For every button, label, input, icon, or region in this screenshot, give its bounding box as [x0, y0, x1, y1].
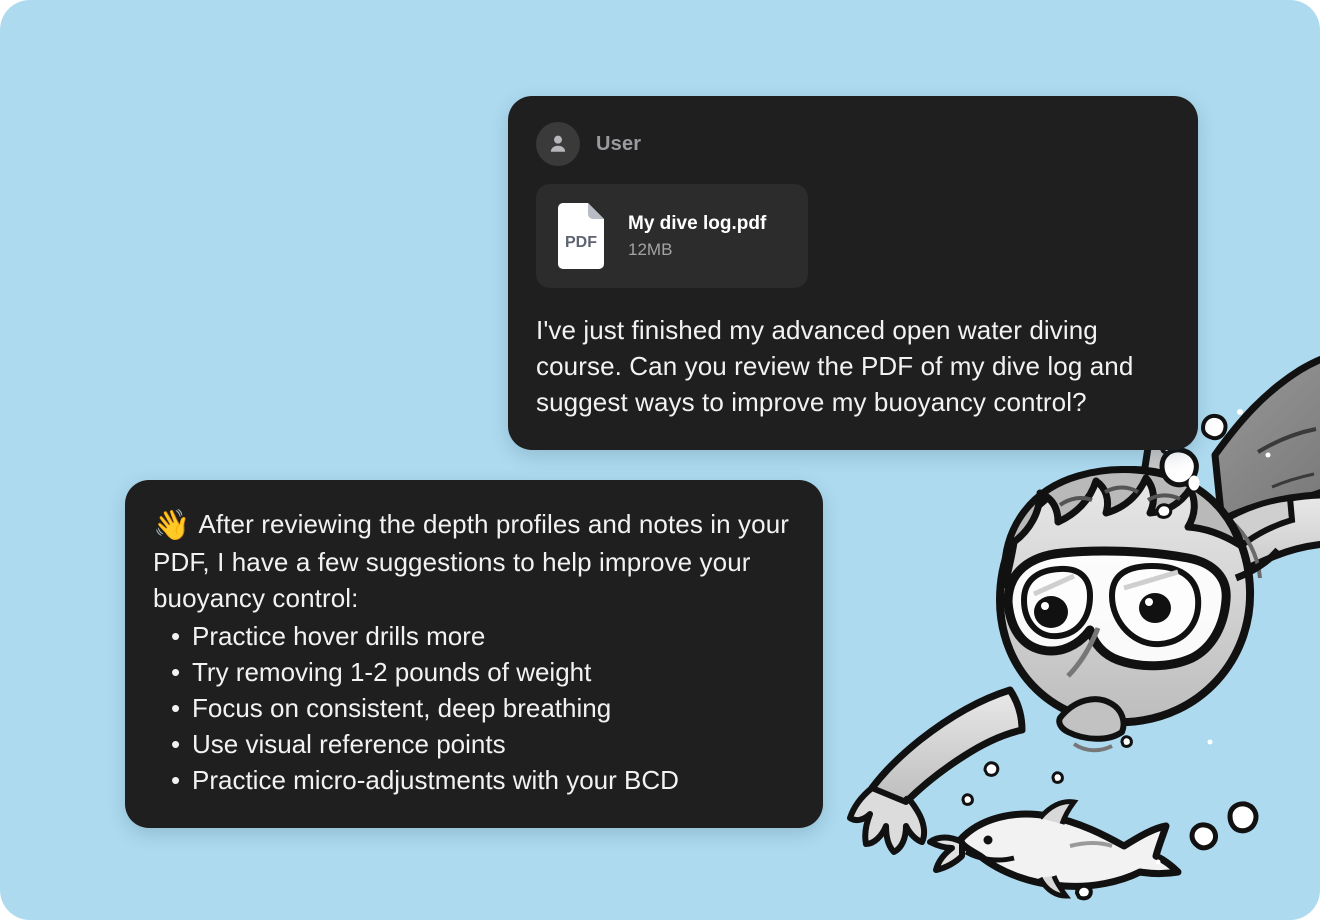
left-arm	[850, 690, 1022, 852]
svg-text:PDF: PDF	[565, 234, 597, 251]
user-message-header: User	[536, 122, 1170, 166]
assistant-message-bubble: 👋After reviewing the depth profiles and …	[125, 480, 823, 828]
waving-hand-emoji: 👋	[153, 509, 190, 542]
right-arm	[1179, 495, 1320, 600]
list-item: Practice hover drills more	[153, 618, 795, 654]
torso	[1175, 498, 1292, 608]
user-message-text: I've just finished my advanced open wate…	[536, 312, 1170, 420]
user-message-bubble: User PDF My dive log.pdf 12MB I've just …	[508, 96, 1198, 450]
fish	[930, 802, 1178, 896]
file-size: 12MB	[628, 240, 766, 260]
file-meta: My dive log.pdf 12MB	[628, 213, 766, 260]
file-name: My dive log.pdf	[628, 213, 766, 235]
pdf-file-icon: PDF	[554, 202, 608, 270]
person-avatar-icon	[536, 122, 580, 166]
list-item: Focus on consistent, deep breathing	[153, 690, 795, 726]
list-item: Try removing 1-2 pounds of weight	[153, 654, 795, 690]
snorkeler-head	[1000, 470, 1278, 751]
pdf-attachment-card[interactable]: PDF My dive log.pdf 12MB	[536, 184, 808, 288]
author-name: User	[596, 133, 641, 156]
list-item: Use visual reference points	[153, 726, 795, 762]
assistant-message-intro: 👋After reviewing the depth profiles and …	[153, 506, 795, 616]
list-item: Practice micro-adjustments with your BCD	[153, 762, 795, 798]
suggestion-list: Practice hover drills more Try removing …	[153, 618, 795, 798]
assistant-intro-text: After reviewing the depth profiles and n…	[153, 509, 789, 613]
page-root: User PDF My dive log.pdf 12MB I've just …	[0, 0, 1320, 920]
wetsuit-arm	[1215, 348, 1320, 523]
air-bubbles	[963, 382, 1271, 898]
diving-mask	[1008, 551, 1226, 666]
